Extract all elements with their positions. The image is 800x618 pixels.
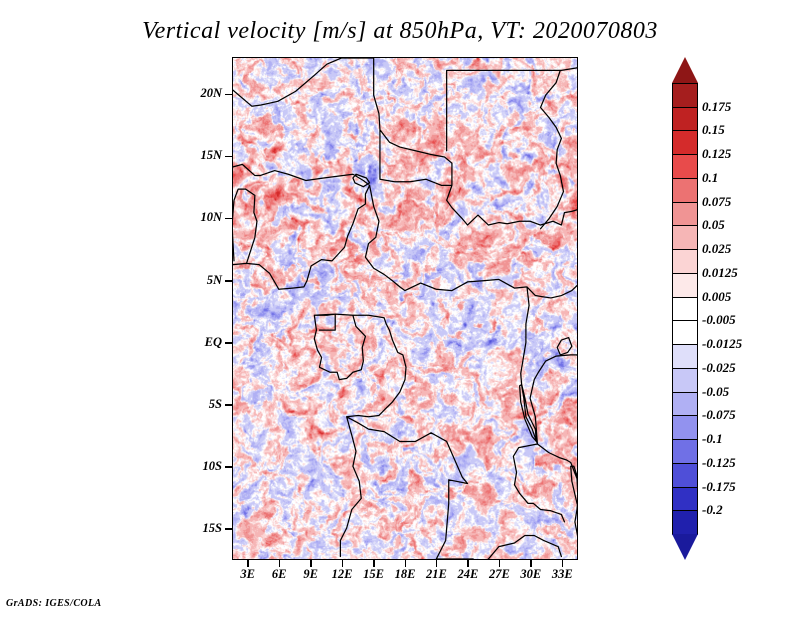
colorbar-swatch <box>672 415 698 440</box>
country-borders-overlay <box>233 58 577 559</box>
colorbar-tick-label: -0.05 <box>702 384 729 400</box>
colorbar-swatch <box>672 107 698 132</box>
x-axis-tick <box>342 560 344 567</box>
colorbar-tick-label: 0.175 <box>702 99 731 115</box>
colorbar-tick-label: 0.125 <box>702 146 731 162</box>
colorbar-swatch <box>672 249 698 274</box>
page-title: Vertical velocity [m/s] at 850hPa, VT: 2… <box>0 18 800 45</box>
colorbar-tick-label: -0.0125 <box>702 336 742 352</box>
y-axis-tick <box>225 528 232 530</box>
y-axis-label: EQ <box>178 335 222 350</box>
map-plot-area <box>232 57 578 560</box>
colorbar-top-arrow <box>672 57 698 83</box>
colorbar-tick-label: -0.025 <box>702 360 736 376</box>
x-axis-tick <box>310 560 312 567</box>
y-axis-tick <box>225 466 232 468</box>
colorbar-swatch <box>672 225 698 250</box>
y-axis-label: 5N <box>178 273 222 288</box>
x-axis-tick <box>467 560 469 567</box>
colorbar-swatch <box>672 83 698 108</box>
country-border-path <box>233 58 577 559</box>
y-axis-label: 15N <box>178 148 222 163</box>
colorbar-tick-label: -0.2 <box>702 502 723 518</box>
y-axis-tick <box>225 280 232 282</box>
colorbar-tick-label: -0.005 <box>702 312 736 328</box>
colorbar-tick-label: 0.1 <box>702 170 718 186</box>
x-axis-tick <box>405 560 407 567</box>
colorbar-swatch <box>672 368 698 393</box>
colorbar-swatch <box>672 344 698 369</box>
y-axis-label: 20N <box>178 86 222 101</box>
colorbar-tick-label: 0.025 <box>702 241 731 257</box>
y-axis-label: 10S <box>178 459 222 474</box>
grads-plot-page: Vertical velocity [m/s] at 850hPa, VT: 2… <box>0 0 800 618</box>
colorbar-swatch <box>672 487 698 512</box>
x-axis-tick <box>436 560 438 567</box>
y-axis-tick <box>225 404 232 406</box>
colorbar-tick-label: 0.0125 <box>702 265 738 281</box>
colorbar-swatch <box>672 273 698 298</box>
x-axis-tick <box>562 560 564 567</box>
colorbar-swatch <box>672 320 698 345</box>
colorbar-swatch <box>672 297 698 322</box>
colorbar-swatch <box>672 463 698 488</box>
x-axis-tick <box>279 560 281 567</box>
y-axis-tick <box>225 156 232 158</box>
colorbar-tick-label: 0.005 <box>702 289 731 305</box>
colorbar-swatch <box>672 202 698 227</box>
y-axis-tick <box>225 218 232 220</box>
colorbar-tick-label: -0.1 <box>702 431 723 447</box>
colorbar-swatch <box>672 130 698 155</box>
colorbar: 0.1750.150.1250.10.0750.050.0250.01250.0… <box>672 57 698 560</box>
colorbar-bottom-arrow <box>672 534 698 560</box>
colorbar-swatch <box>672 178 698 203</box>
x-axis-tick <box>530 560 532 567</box>
colorbar-swatch <box>672 154 698 179</box>
footer-credit: GrADS: IGES/COLA <box>6 598 102 609</box>
colorbar-tick-label: 0.05 <box>702 217 725 233</box>
colorbar-tick-label: -0.125 <box>702 455 736 471</box>
colorbar-swatch <box>672 392 698 417</box>
y-axis-label: 5S <box>178 397 222 412</box>
colorbar-swatch <box>672 510 698 535</box>
colorbar-tick-label: 0.15 <box>702 122 725 138</box>
colorbar-tick-label: -0.175 <box>702 479 736 495</box>
x-axis-tick <box>373 560 375 567</box>
y-axis-label: 15S <box>178 521 222 536</box>
x-axis-label: 33E <box>542 567 582 582</box>
y-axis-label: 10N <box>178 210 222 225</box>
y-axis-tick <box>225 94 232 96</box>
colorbar-tick-label: -0.075 <box>702 407 736 423</box>
colorbar-tick-label: 0.075 <box>702 194 731 210</box>
y-axis-tick <box>225 342 232 344</box>
colorbar-swatch <box>672 439 698 464</box>
x-axis-tick <box>247 560 249 567</box>
x-axis-tick <box>499 560 501 567</box>
